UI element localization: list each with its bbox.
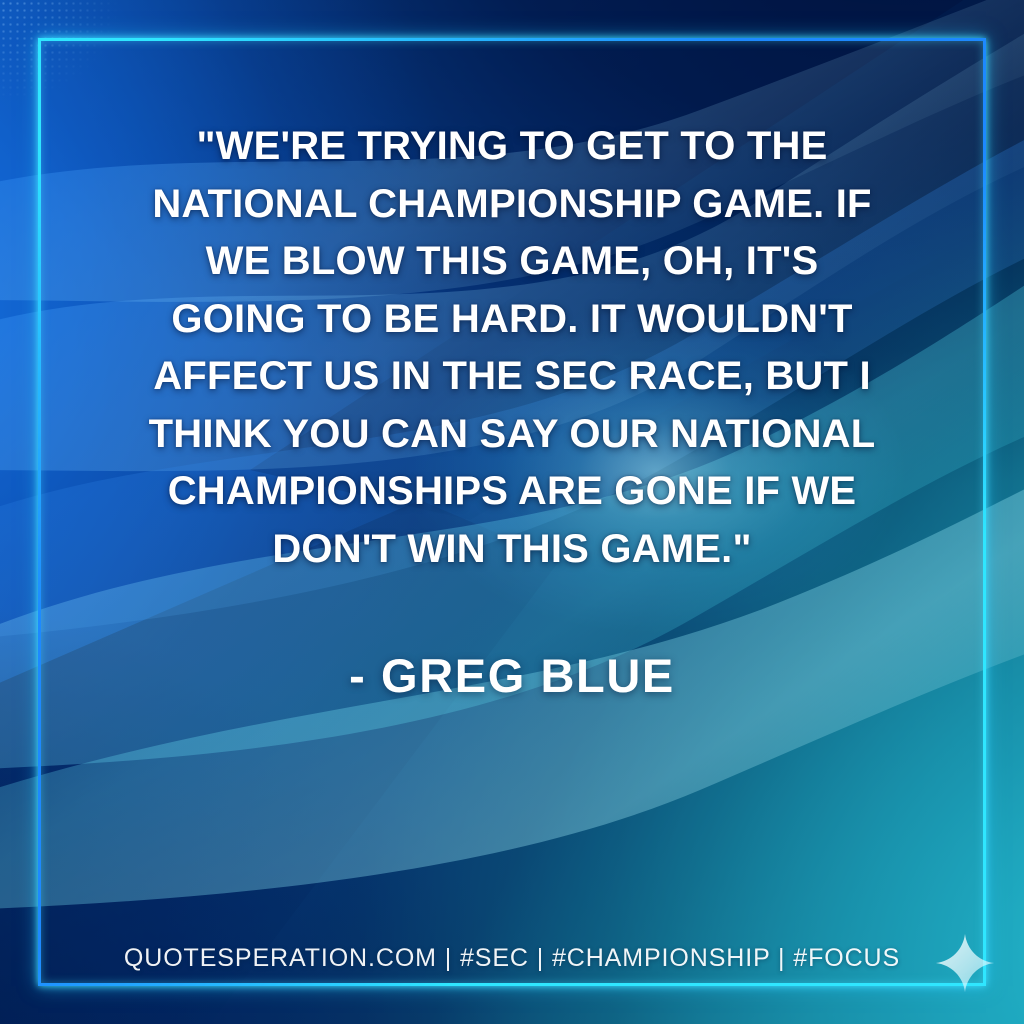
footer-credits: QUOTESPERATION.COM | #SEC | #CHAMPIONSHI…: [0, 944, 1024, 973]
sparkle-star-icon: [934, 932, 996, 994]
quote-attribution: - GREG BLUE: [0, 648, 1024, 703]
card-content: "WE'RE TRYING TO GET TO THE NATIONAL CHA…: [0, 0, 1024, 1024]
quote-block: "WE'RE TRYING TO GET TO THE NATIONAL CHA…: [90, 118, 934, 578]
quote-text: "WE'RE TRYING TO GET TO THE NATIONAL CHA…: [90, 118, 934, 578]
quote-card: "WE'RE TRYING TO GET TO THE NATIONAL CHA…: [0, 0, 1024, 1024]
